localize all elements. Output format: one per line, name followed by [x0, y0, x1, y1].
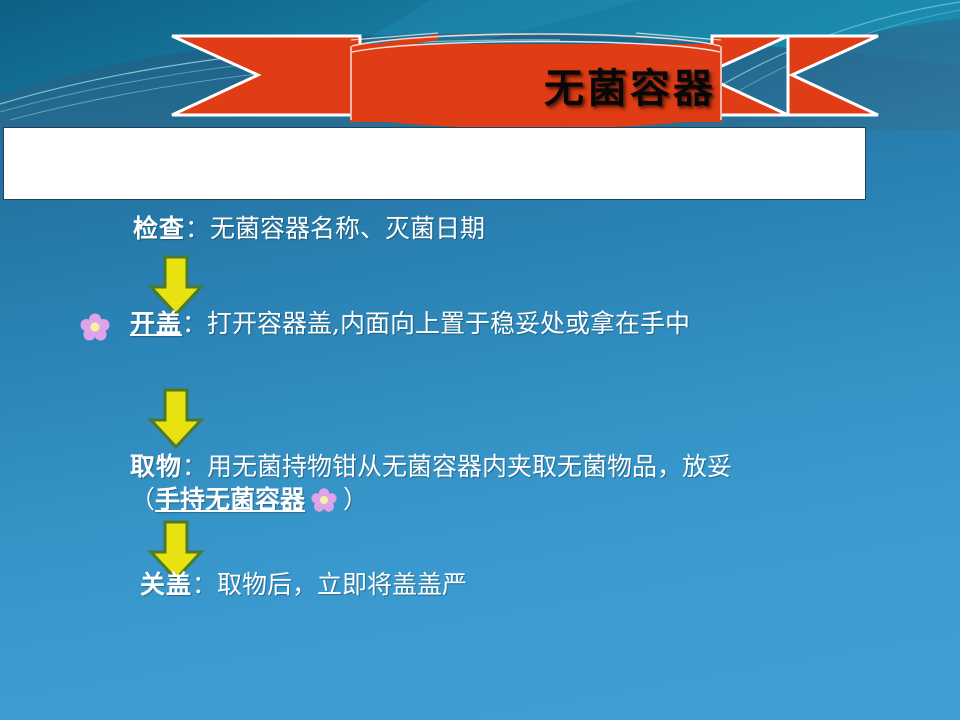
slide-body: 检查：无菌容器名称、灭菌日期 开盖：打开容器盖,内面向	[0, 200, 960, 720]
step-open-lid-body: 打开容器盖,内面向上置于稳妥处或拿在手中	[207, 309, 690, 338]
step-take-item: 取物：用无菌持物钳从无菌容器内夹取无菌物品，放妥（手持无菌容器）	[130, 450, 760, 521]
step-open-lid: 开盖：打开容器盖,内面向上置于稳妥处或拿在手中	[130, 307, 750, 340]
step-close-lid-keyword: 关盖	[140, 570, 192, 599]
flower-icon	[311, 487, 337, 521]
step-check-keyword: 检查	[133, 214, 185, 243]
step-check-body: 无菌容器名称、灭菌日期	[210, 214, 485, 243]
content-placeholder-box[interactable]	[3, 127, 866, 200]
step-take-item-colon: ：	[182, 452, 207, 481]
down-arrow-icon	[147, 388, 205, 454]
step-check-colon: ：	[185, 214, 210, 243]
step-check: 检查：无菌容器名称、灭菌日期	[133, 212, 485, 245]
slide-title: 无菌容器	[355, 66, 720, 112]
ribbon-banner: 无菌容器	[0, 0, 960, 135]
flower-icon	[80, 312, 110, 346]
step-open-lid-colon: ：	[182, 309, 207, 338]
step-close-lid-body: 取物后，立即将盖盖严	[217, 570, 467, 599]
step-take-item-body-2: ）	[343, 485, 368, 514]
step-take-item-keyword: 取物	[130, 452, 182, 481]
step-take-item-emphasis: 手持无菌容器	[155, 485, 305, 514]
presentation-slide: 无菌容器 检查：无菌容器名称、灭菌日期	[0, 0, 960, 720]
step-close-lid: 关盖：取物后，立即将盖盖严	[140, 568, 467, 601]
step-close-lid-colon: ：	[192, 570, 217, 599]
step-open-lid-keyword: 开盖	[130, 309, 182, 338]
